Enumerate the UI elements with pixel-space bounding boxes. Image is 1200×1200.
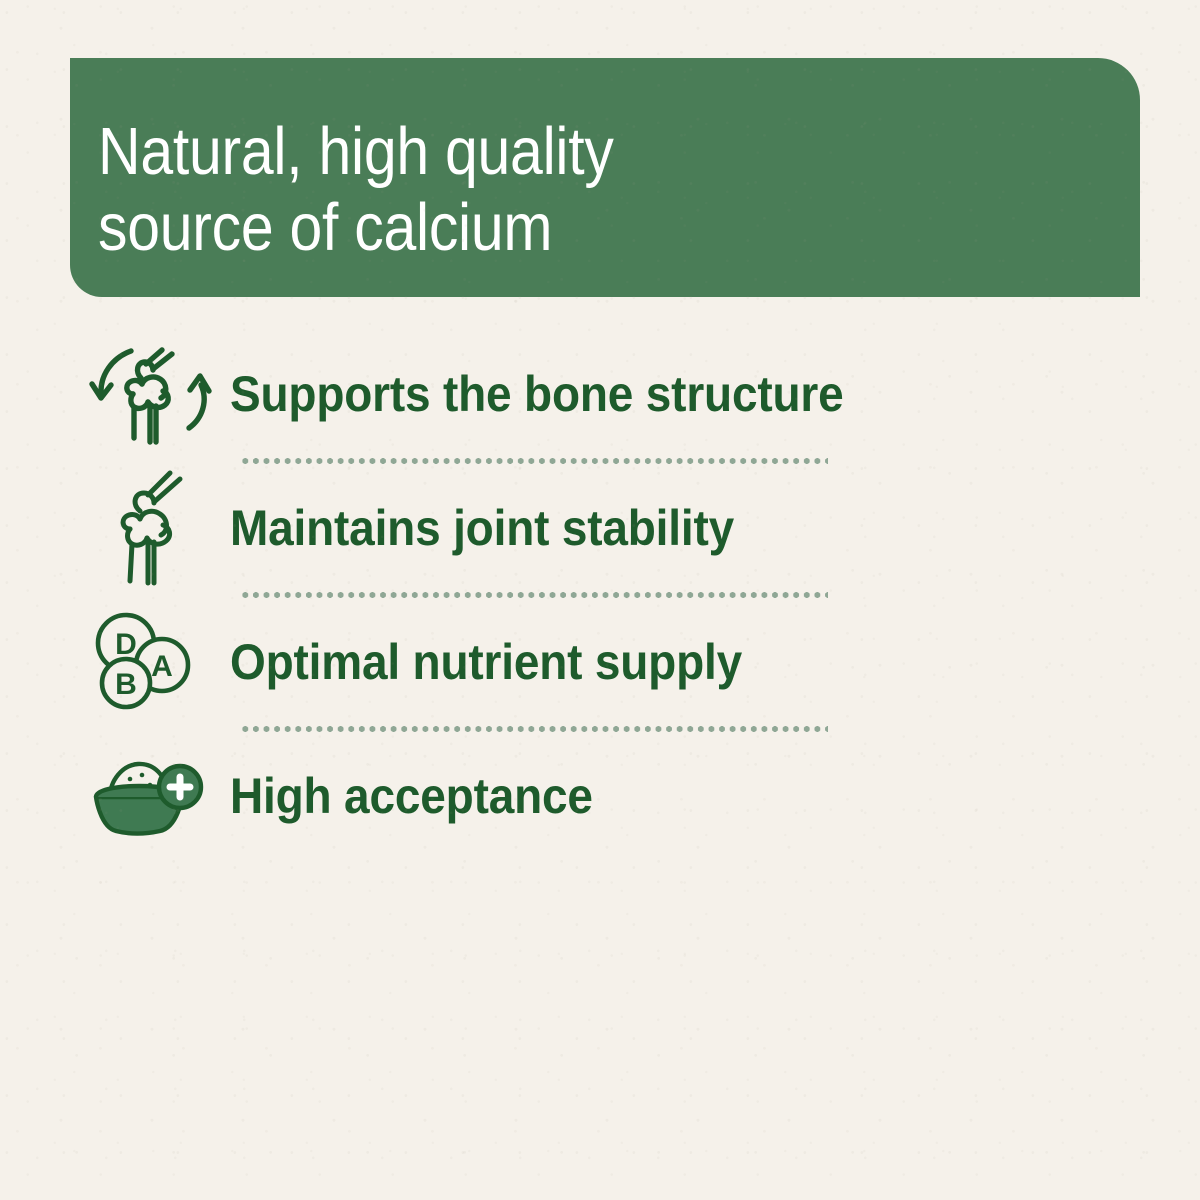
header-banner: Natural, high quality source of calcium: [70, 58, 1140, 297]
food-bowl-plus-icon: [70, 751, 230, 841]
feature-label: Optimal nutrient supply: [230, 637, 742, 687]
feature-label: Supports the bone structure: [230, 369, 844, 419]
feature-list: Supports the bone structure Ma: [70, 330, 860, 860]
page-title: Natural, high quality source of calcium: [98, 114, 962, 267]
feature-row-high-acceptance: High acceptance: [70, 732, 860, 860]
feature-label: Maintains joint stability: [230, 503, 734, 553]
vitamin-letter-d: D: [115, 628, 137, 661]
feature-row-nutrient-supply: D A B Optimal nutrient supply: [70, 598, 860, 726]
vitamins-dba-circles-icon: D A B: [70, 607, 230, 717]
bone-joint-refresh-icon: [70, 338, 230, 450]
feature-row-bone-structure: Supports the bone structure: [70, 330, 860, 458]
feature-row-joint-stability: Maintains joint stability: [70, 464, 860, 592]
vitamin-letter-b: B: [115, 668, 137, 701]
vitamin-letter-a: A: [151, 650, 173, 683]
feature-label: High acceptance: [230, 771, 593, 821]
knee-joint-icon: [70, 469, 230, 587]
